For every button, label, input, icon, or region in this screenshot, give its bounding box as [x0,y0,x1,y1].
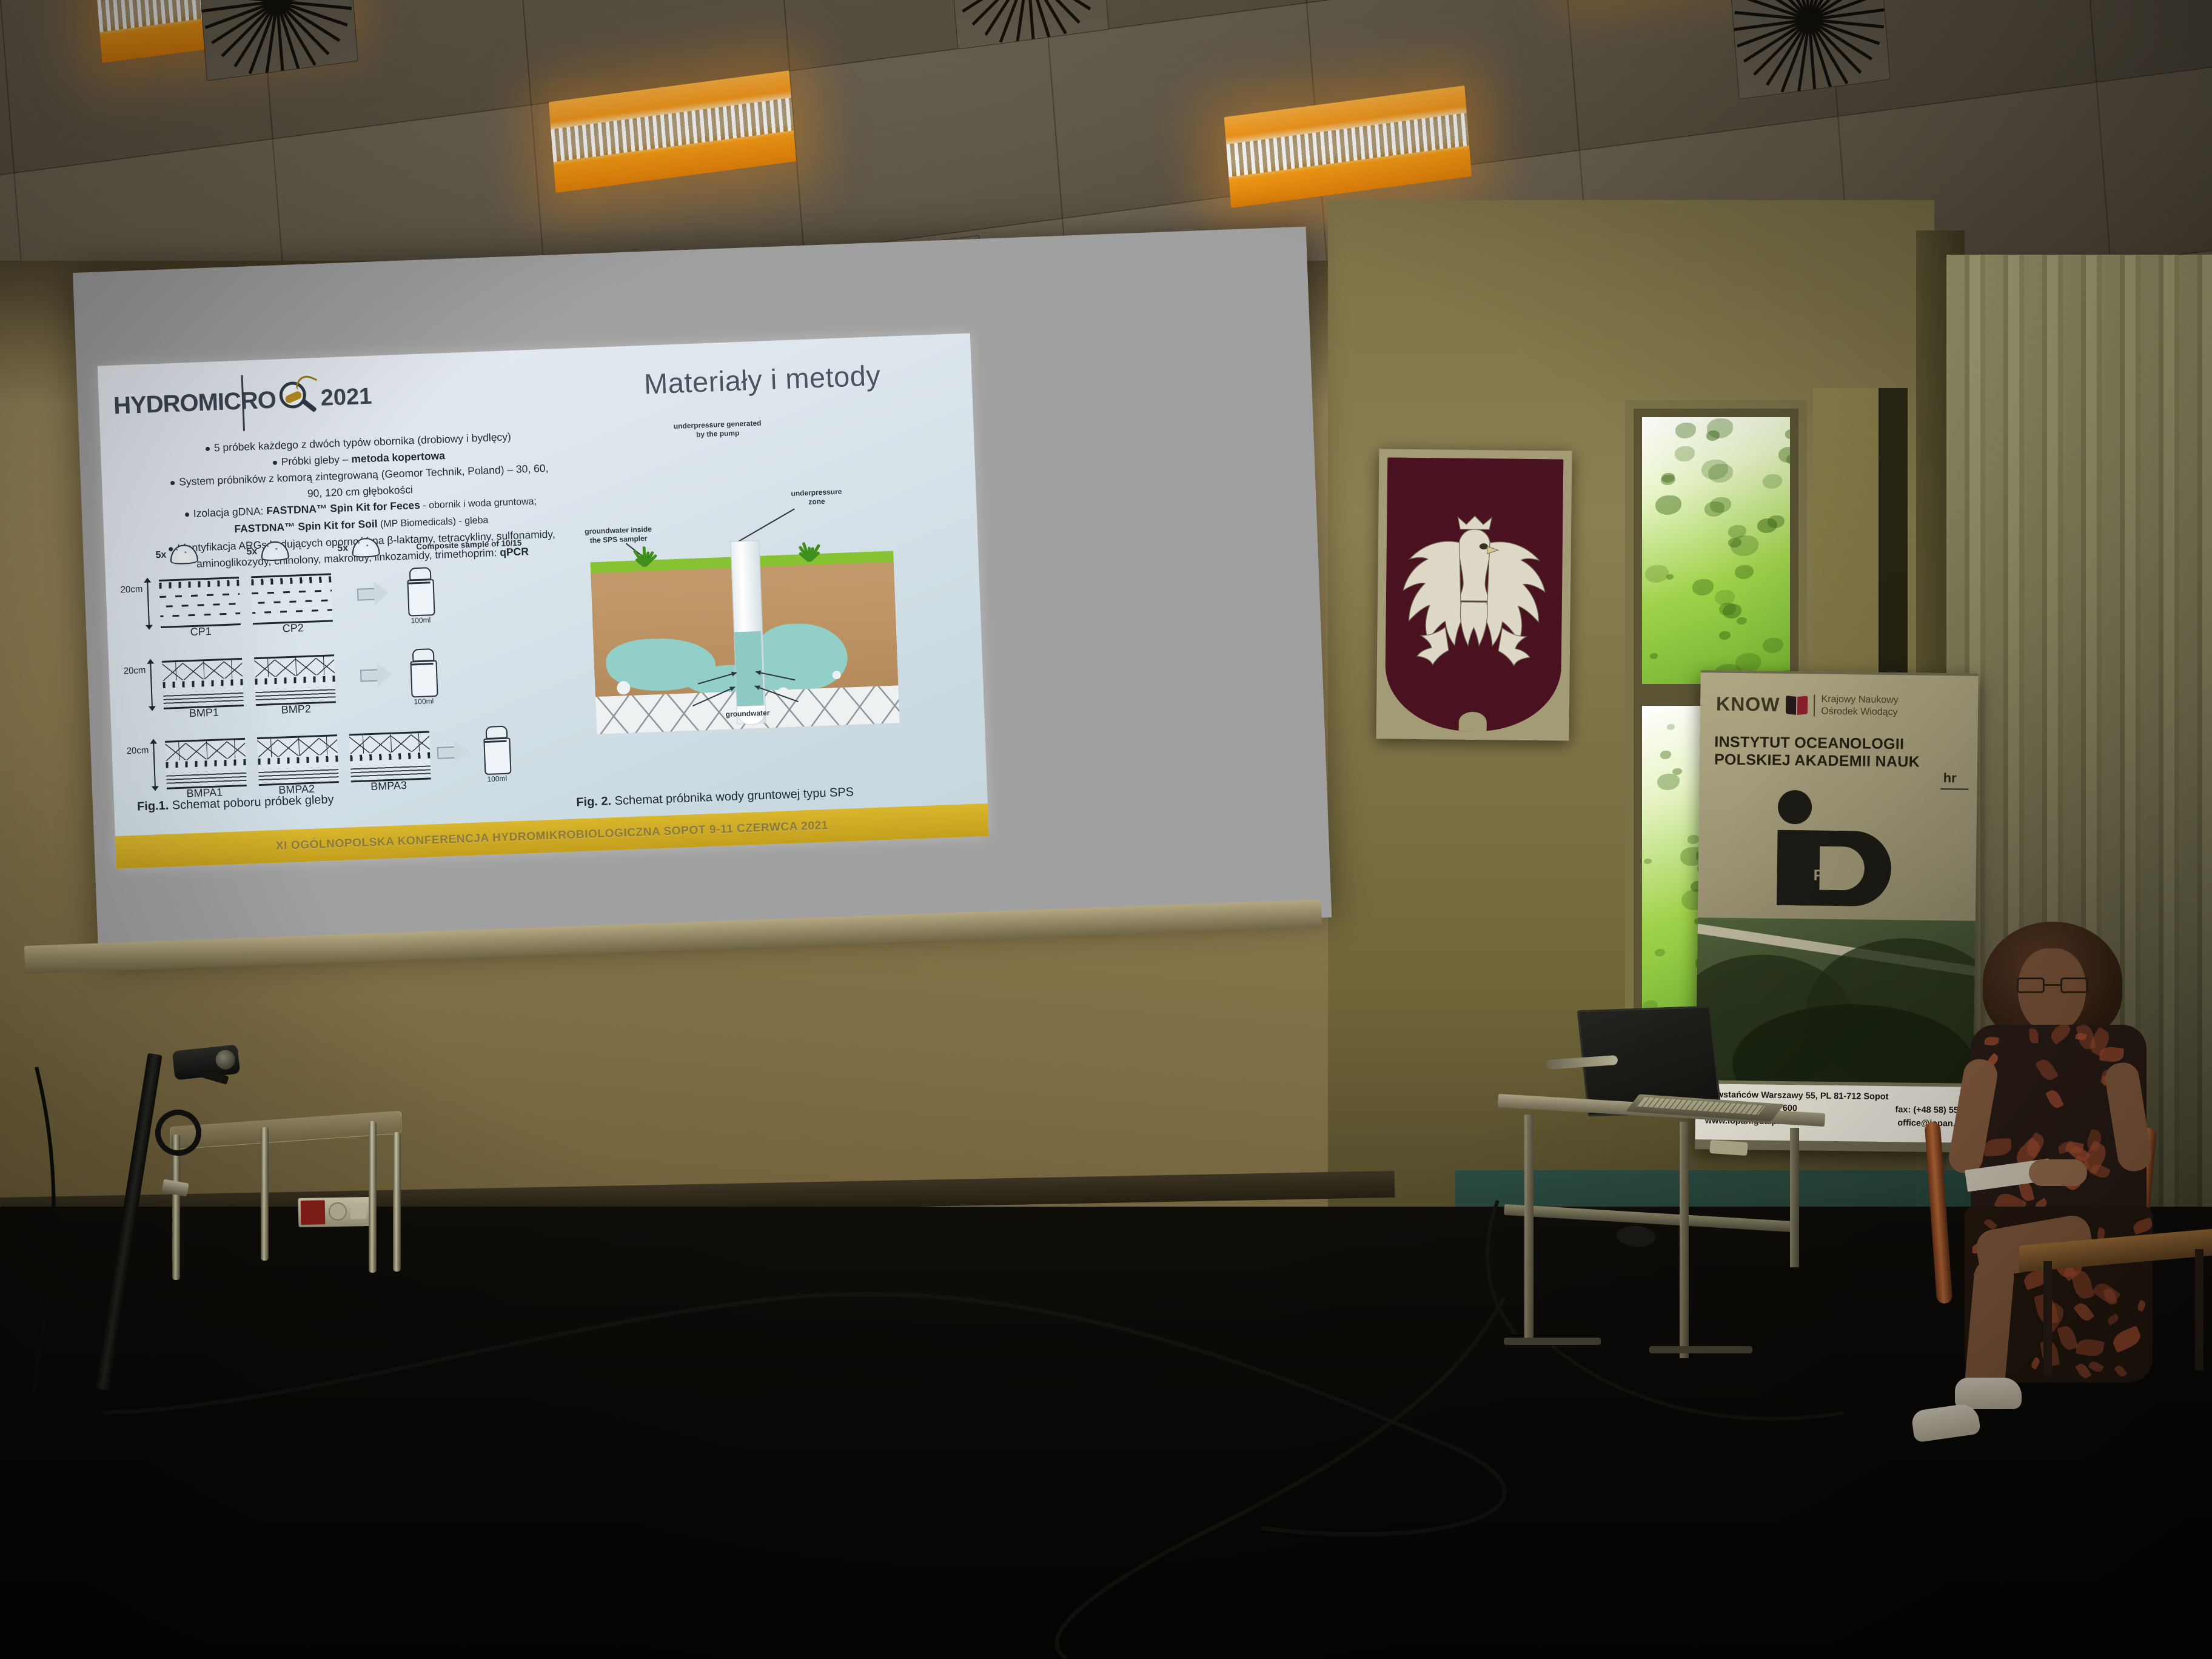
foliage-leaf [1735,565,1754,579]
core-label: BMP1 [164,705,244,721]
depth-marker: 20cm [126,745,149,756]
foliage-leaf [1644,859,1652,864]
know-acronym: KNOW [1716,693,1780,716]
eagle-icon [1397,500,1550,683]
ceiling-tile [2096,48,2212,265]
foliage-leaf [1655,495,1681,515]
grass-tuft [625,545,661,567]
jar-volume-label: 100ml [407,615,435,625]
dress-floral-motif [2046,1088,2065,1110]
soil-core-cp1 [159,577,241,628]
ceiling-tile [789,36,1063,253]
dress-floral-motif [2076,1025,2096,1051]
foliage-leaf [1706,431,1720,441]
foliage-leaf [1778,447,1790,463]
mouse[interactable] [1616,1225,1656,1248]
wooden-table [2019,1237,2212,1376]
process-arrow [360,662,393,688]
bullet-text: (MP Biomedicals) - gleba [377,515,488,530]
table-leg [2195,1249,2204,1370]
boom-base [29,1352,120,1389]
grass-tuft [789,540,825,562]
dress-floral-motif [1985,1036,2000,1047]
foliage-leaf [1660,751,1671,759]
sps-sampler-diagram: groundwater [590,535,902,777]
pile-multiplier: 5x [337,543,348,554]
open-book-icon [1786,695,1808,714]
pile-multiplier: 5x [246,546,257,558]
jar-volume-label: 100ml [410,697,438,706]
sampler-label-line2: the SPS sampler [590,534,648,545]
emblem-shield [1385,457,1564,732]
know-sub-line1: Krajowy Naukowy [1821,694,1898,706]
foliage-leaf [1708,464,1734,483]
pump-label-line2: by the pump [696,429,740,439]
bullet-text: 90, 120 cm głębokości [307,483,413,500]
foliage-leaf [1719,631,1731,640]
soil-core-bmpa3 [349,731,431,782]
foliage-leaf [1687,835,1699,843]
dress-floral-motif [2035,1057,2059,1083]
foliage-leaf [1763,474,1782,489]
camera-lens-icon [215,1049,236,1070]
window-pane-top [1642,417,1790,684]
pump-label-line1: underpressure generated [674,419,762,431]
presentation-slide: HYDROMICRO 2021 Materiały i metody 5 pró… [98,333,989,869]
soil-core-cp2 [251,573,333,625]
soil-core-bmp1 [162,658,244,709]
soil-core-bmp2 [254,654,336,706]
pile-multiplier: 5x [155,550,166,561]
foliage-leaf [1650,653,1658,659]
process-arrow [437,739,470,765]
foliage-leaf [1731,535,1758,556]
foliage-leaf [1692,579,1714,595]
sample-jar: 100ml [408,648,438,697]
foliage-leaf [1757,518,1777,534]
know-sub-line2: Ośrodek Wiodący [1821,706,1897,717]
magnifier-bacteria-icon [279,381,315,417]
depth-label: 20cm [123,665,146,676]
core-label: CP2 [253,620,333,636]
hydromicro-year: 2021 [320,383,372,411]
soil-core-bmpa1 [165,738,247,789]
soil-pile-icon [261,541,289,561]
figure-1: 5x 5x 5x Composite sample of 10/15 20cm … [119,531,554,826]
foliage-leaf [1735,653,1761,672]
figure-1-label: Fig.1. [137,799,169,814]
slide-title: Materiały i metody [643,358,881,401]
zone-label-line2: zone [808,497,825,506]
foliage-leaf [1675,423,1696,438]
dress-floral-motif [2132,1217,2153,1234]
depth-label: 20cm [126,745,149,756]
chair-arm-left [1925,1121,1953,1304]
foliage-leaf [1657,774,1680,790]
bullet-text-bold: FASTDNA™ Spin Kit for Feces [266,499,420,517]
bullet-text: Izolacja gDNA: [193,505,266,520]
core-label: BMP2 [256,702,337,717]
soil-pile-icon [170,545,198,565]
zone-label-line1: underpressure [791,488,842,498]
figure-2: underpressure generated by the pump unde… [549,412,952,845]
polish-coat-of-arms [1376,449,1572,740]
cart-lower-shelf [1504,1204,1795,1232]
dress-floral-motif [1983,1138,2011,1156]
foliage-leaf [1655,949,1664,956]
foliage-leaf [1737,617,1747,625]
sampler-water-label: groundwater inside the SPS sampler [569,525,667,546]
foliage-leaf [1667,724,1675,730]
know-logo: KNOW Krajowy Naukowy Ośrodek Wiodący [1716,692,1899,719]
institute-name: INSTYTUT OCEANOLOGII POLSKIEJ AKADEMII N… [1714,734,1965,772]
figure-2-caption: Fig. 2. Schemat próbnika wody gruntowej … [576,785,854,809]
depth-label: 20cm [120,584,142,595]
bullet-text: Próbki gleby – [281,453,351,468]
figure-2-caption-text: Schemat próbnika wody gruntowej typu SPS [611,785,854,808]
dress-floral-motif [2048,1025,2073,1045]
hands [2029,1159,2087,1186]
conference-room-photo: KNOW Krajowy Naukowy Ośrodek Wiodący INS… [0,0,2212,1659]
dress-floral-motif [2099,1046,2123,1063]
know-subtitle: Krajowy Naukowy Ośrodek Wiodący [1821,694,1899,719]
sample-jar: 100ml [405,567,435,615]
pump-label: underpressure generated by the pump [663,418,773,441]
figure-2-label: Fig. 2. [576,794,612,809]
process-arrow [357,581,390,606]
foliage-leaf [1710,497,1731,513]
bullet-text: - obornik i woda gruntowa; [420,497,537,511]
divider [1814,694,1815,716]
foliage-leaf [1763,638,1783,653]
underpressure-zone-label: underpressure zone [777,487,856,508]
foliage-leaf [1675,446,1694,461]
foliage-leaf [1645,565,1669,583]
bullet-text-bold: FASTDNA™ Spin Kit for Soil [234,518,378,535]
institute-line2: POLSKIEJ AKADEMII NAUK [1714,751,1964,772]
sample-jar: 100ml [481,726,511,774]
eyeglasses [2017,977,2088,993]
av-cart [1498,1031,1843,1370]
soil-core-bmpa2 [257,734,339,786]
depth-marker: 20cm [123,665,146,676]
depth-marker: 20cm [120,584,142,595]
composite-sample-note: Composite sample of 10/15 [416,538,522,552]
bullet-text-bold: metoda kopertowa [351,449,445,465]
foliage-leaf [1666,574,1674,580]
table-leg [2043,1261,2052,1376]
hr-excellence-badge: hr [1943,770,1957,786]
jar-volume-label: 100ml [483,774,511,783]
pan-label: PAN [1814,867,1845,885]
iopan-logo: PAN [1765,790,1893,907]
core-label: CP1 [161,624,241,640]
foliage-leaf [1785,429,1790,439]
cart-device [1709,1140,1748,1156]
dress-floral-motif [2029,1028,2038,1043]
projection-screen: HYDROMICRO 2021 Materiały i metody 5 pró… [73,227,1332,964]
soil-pile-icon [352,537,380,558]
hydromicro-wordmark: HYDROMICRO [113,386,276,420]
glass-side-table [164,1119,406,1301]
core-label: BMPA3 [349,779,429,794]
